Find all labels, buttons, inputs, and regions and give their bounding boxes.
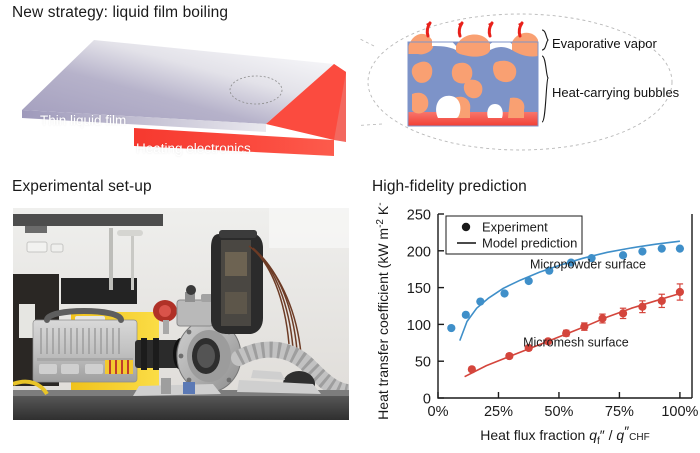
y-axis-label: Heat transfer coefficient (kW m-2 K-1) — [375, 202, 391, 420]
data-point — [676, 244, 684, 252]
interior-blob-7 — [508, 98, 524, 118]
photo-post-2 — [183, 382, 195, 394]
legend-marker-experiment — [462, 223, 470, 231]
prediction-chart-panel: High-fidelity prediction 050100150200250… — [366, 178, 700, 453]
microstructure-inset: Evaporative vapor Heat-carrying bubbles — [360, 6, 700, 166]
photo-post-1 — [161, 378, 171, 394]
model-curve-micropowder-surface — [460, 241, 680, 340]
brace-heat-carrying-bubbles — [542, 56, 548, 122]
data-point — [525, 277, 533, 285]
y-tick-label: 100 — [407, 318, 431, 334]
photo-highspeed-camera — [33, 311, 137, 382]
photo-ceiling-beam — [13, 214, 163, 226]
data-point — [598, 314, 606, 322]
leader-line-lower — [360, 124, 382, 126]
photo-wall-box-1 — [27, 242, 47, 252]
evaporative-vapor-label: Evaporative vapor — [552, 36, 657, 51]
series-annotation: Micromesh surface — [523, 335, 629, 349]
data-point — [638, 247, 646, 255]
photo-wall-box-2 — [51, 244, 63, 252]
data-point — [580, 323, 588, 331]
data-point — [447, 324, 455, 332]
photo-door-paper — [19, 304, 35, 338]
photo-beam-bracket — [25, 226, 47, 233]
brace-group — [542, 30, 548, 122]
surface-blob-2 — [456, 35, 491, 57]
prediction-chart-svg: 0501001502002500%25%50%75%100%Micropowde… — [366, 202, 700, 452]
brace-evaporative-vapor — [542, 30, 548, 50]
heat-carrying-bubbles-label: Heat-carrying bubbles — [552, 85, 679, 100]
chart-title: High-fidelity prediction — [372, 178, 527, 196]
data-point — [462, 311, 470, 319]
y-tick-label: 250 — [407, 208, 431, 224]
thin-liquid-film-label: Thin liquid film — [40, 113, 126, 128]
legend-label-experiment: Experiment — [482, 220, 548, 235]
photo-highlight — [269, 208, 349, 248]
strategy-panel: New strategy: liquid film boiling — [0, 0, 700, 175]
y-tick-label: 50 — [415, 355, 431, 371]
heating-electronics-label: Heating electronics — [136, 141, 251, 156]
photo-window-strip — [61, 278, 137, 304]
series-annotation: Micropowder surface — [530, 257, 646, 271]
x-axis-label: Heat flux fraction qf″ / q″CHF — [480, 423, 649, 447]
y-tick-label: 200 — [407, 244, 431, 260]
data-point — [500, 289, 508, 297]
slab-svg — [16, 28, 346, 158]
data-point — [638, 303, 646, 311]
photo-rail-clamp — [117, 230, 143, 236]
x-tick-label: 100% — [661, 404, 698, 420]
x-tick-label: 25% — [484, 404, 513, 420]
data-point — [658, 297, 666, 305]
strategy-panel-title: New strategy: liquid film boiling — [12, 4, 228, 22]
data-point — [676, 288, 684, 296]
x-tick-label: 50% — [544, 404, 573, 420]
photo-rail-2 — [131, 232, 134, 290]
x-tick-label: 0% — [428, 404, 449, 420]
microstructure-cell — [408, 22, 538, 126]
photo-optical-table — [13, 394, 349, 420]
data-point — [505, 352, 513, 360]
data-point — [468, 365, 476, 373]
data-point — [476, 297, 484, 305]
experimental-setup-title: Experimental set-up — [12, 178, 152, 196]
x-tick-label: 75% — [605, 404, 634, 420]
data-point — [619, 309, 627, 317]
leader-line-upper — [360, 36, 374, 46]
experimental-setup-photo — [13, 208, 349, 420]
y-tick-label: 150 — [407, 281, 431, 297]
experimental-setup-panel: Experimental set-up — [0, 178, 366, 453]
liquid-film-slab-diagram: Thin liquid film Heating electronics — [16, 28, 346, 158]
experimental-setup-photo-svg — [13, 208, 349, 420]
legend-label-model: Model prediction — [482, 236, 577, 251]
surface-blob-1 — [408, 34, 433, 54]
photo-rail-1 — [109, 228, 113, 290]
photo-heater-column — [211, 230, 263, 334]
data-point — [658, 244, 666, 252]
